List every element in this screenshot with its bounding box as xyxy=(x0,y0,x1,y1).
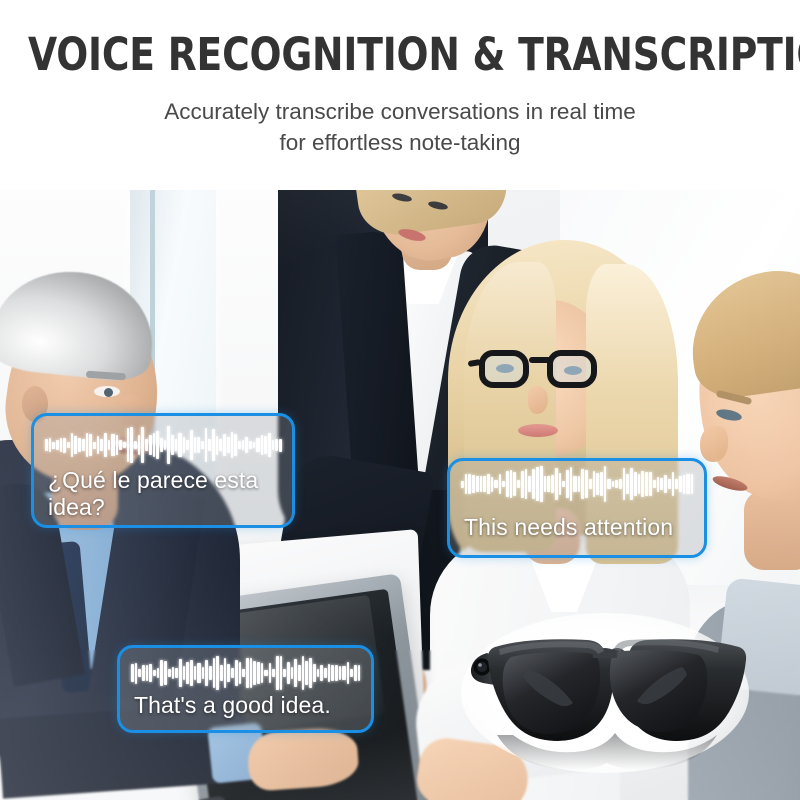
waveform-bar xyxy=(555,468,558,501)
waveform-bar xyxy=(645,472,648,496)
waveform-bar xyxy=(638,474,641,495)
waveform-bar xyxy=(67,442,70,449)
waveform-bar xyxy=(657,477,660,492)
waveform-bar xyxy=(178,433,181,456)
waveform-bar xyxy=(302,656,305,690)
right-man-neck xyxy=(744,490,800,570)
waveform-bar xyxy=(291,667,294,680)
waveform-bar xyxy=(250,658,253,689)
waveform-bar xyxy=(146,665,149,682)
waveform-bar xyxy=(269,663,272,683)
waveform-bar xyxy=(235,660,238,685)
waveform-bar xyxy=(145,439,148,450)
waveform-bar xyxy=(581,469,584,499)
page-title: VOICE RECOGNITION & TRANSCRIPTION xyxy=(28,30,772,80)
right-man-nose xyxy=(700,426,728,462)
waveform-bar xyxy=(223,434,226,456)
waveform-bar xyxy=(566,470,569,498)
waveform-bar xyxy=(264,436,267,454)
waveform-bar xyxy=(141,427,144,464)
waveform-bar xyxy=(649,472,652,495)
waveform-bar xyxy=(246,658,249,687)
waveform-bar xyxy=(521,471,524,498)
waveform-bar xyxy=(331,665,334,681)
waveform-bar xyxy=(570,467,573,500)
waveform-bar xyxy=(268,433,271,456)
waveform-bar xyxy=(97,436,100,455)
waveform-bar xyxy=(472,475,475,492)
waveform-bar xyxy=(138,669,141,677)
waveform-bar xyxy=(468,474,471,494)
waveform-bar xyxy=(216,656,219,691)
waveform-bar xyxy=(261,435,264,454)
waveform-bar xyxy=(134,441,137,450)
waveform-bar xyxy=(197,663,200,683)
waveform-bar xyxy=(52,442,55,449)
waveform-bar xyxy=(480,476,483,491)
waveform-bar xyxy=(499,474,502,494)
waveform-bar xyxy=(607,479,610,490)
waveform-bar xyxy=(149,664,152,682)
waveform-bar xyxy=(205,660,208,686)
waveform-bar xyxy=(461,481,464,488)
waveform-bar xyxy=(619,479,622,489)
waveform-bar xyxy=(354,665,357,681)
waveform-bar xyxy=(630,468,633,499)
waveform-bar xyxy=(272,669,275,678)
waveform-bar xyxy=(593,471,596,498)
waveform-bar xyxy=(45,439,48,452)
waveform-bar xyxy=(287,662,290,684)
waveform-bar xyxy=(506,471,509,498)
eyeglass-lens-right xyxy=(547,350,597,388)
waveform-bar xyxy=(164,661,167,685)
waveform-bar xyxy=(679,476,682,492)
waveform-bar xyxy=(476,476,479,492)
waveform-bar xyxy=(227,664,230,682)
waveform-bar xyxy=(283,669,286,676)
waveform-bar xyxy=(275,439,278,452)
waveform-bar xyxy=(675,479,678,490)
page-subtitle: Accurately transcribe conversations in r… xyxy=(0,96,800,158)
waveform-bar xyxy=(634,472,637,496)
waveform-bar xyxy=(142,665,145,680)
page-subtitle-line-1: Accurately transcribe conversations in r… xyxy=(0,96,800,127)
waveform-bar xyxy=(71,433,74,457)
waveform-bar xyxy=(256,438,259,452)
waveform-bar xyxy=(536,467,539,501)
waveform-bar xyxy=(63,438,66,453)
waveform-bar xyxy=(190,660,193,686)
waveform-bar xyxy=(160,660,163,685)
waveform-bar xyxy=(205,428,208,462)
waveform-bar xyxy=(231,668,234,678)
waveform-bar xyxy=(234,434,237,456)
waveform-bar xyxy=(604,466,607,502)
waveform-bar xyxy=(190,430,193,460)
waveform-bar xyxy=(157,668,160,677)
eyeglass-bridge xyxy=(529,357,551,363)
waveform-bar xyxy=(540,466,543,502)
waveform-bar xyxy=(153,670,156,676)
transcription-text: ¿Qué le parece esta idea? xyxy=(48,467,282,521)
waveform-bar xyxy=(335,665,338,682)
waveform-bar xyxy=(212,429,215,461)
waveform-bar xyxy=(339,666,342,681)
audio-waveform-icon xyxy=(460,461,694,507)
waveform-bar xyxy=(186,662,189,684)
waveform-bar xyxy=(138,435,141,455)
waveform-bar xyxy=(305,661,308,685)
waveform-bar xyxy=(78,438,81,453)
waveform-bar xyxy=(119,440,122,450)
waveform-bar xyxy=(168,669,171,677)
waveform-bar xyxy=(186,440,189,450)
waveform-bar xyxy=(202,667,205,680)
waveform-bar xyxy=(517,480,520,488)
waveform-bar xyxy=(213,658,216,688)
waveform-bar xyxy=(578,476,581,492)
waveform-bar xyxy=(525,469,528,499)
waveform-bar xyxy=(547,476,550,493)
older-man-pupil xyxy=(104,388,113,397)
waveform-bar xyxy=(74,436,77,454)
waveform-bar xyxy=(317,669,320,677)
waveform-bar xyxy=(153,433,156,457)
waveform-bar xyxy=(194,437,197,454)
transcription-bubble-goodidea[interactable]: That's a good idea. xyxy=(117,645,374,733)
waveform-bar xyxy=(201,441,204,449)
waveform-bar xyxy=(86,433,89,458)
transcription-bubble-spanish[interactable]: ¿Qué le parece esta idea? xyxy=(31,413,295,528)
header-banner: VOICE RECOGNITION & TRANSCRIPTION Accura… xyxy=(0,0,800,190)
waveform-bar xyxy=(358,665,361,681)
waveform-bar xyxy=(264,670,267,676)
waveform-bar xyxy=(216,436,219,455)
audio-waveform-icon xyxy=(130,650,361,696)
waveform-bar xyxy=(60,438,63,451)
waveform-bar xyxy=(220,665,223,681)
waveform-bar xyxy=(209,666,212,679)
waveform-bar xyxy=(183,666,186,679)
waveform-bar xyxy=(93,442,96,449)
waveform-bar xyxy=(116,435,119,455)
waveform-bar xyxy=(494,480,497,488)
waveform-bar xyxy=(551,475,554,493)
transcription-text: This needs attention xyxy=(464,514,694,541)
waveform-bar xyxy=(544,476,547,492)
waveform-bar xyxy=(130,427,133,463)
waveform-bar xyxy=(242,669,245,677)
waveform-bar xyxy=(298,665,301,682)
waveform-bar xyxy=(49,438,52,452)
waveform-bar xyxy=(253,661,256,685)
waveform-bar xyxy=(82,439,85,451)
waveform-bar xyxy=(279,439,282,452)
waveform-bar xyxy=(324,668,327,678)
center-woman-lips xyxy=(518,424,558,437)
waveform-bar xyxy=(175,439,178,452)
waveform-bar xyxy=(491,477,494,492)
waveform-bar xyxy=(585,470,588,498)
waveform-bar xyxy=(691,474,694,494)
waveform-bar xyxy=(350,669,353,677)
transcription-text: That's a good idea. xyxy=(134,692,361,719)
waveform-bar xyxy=(532,469,535,498)
waveform-bar xyxy=(347,662,350,684)
waveform-bar xyxy=(487,474,490,494)
waveform-bar xyxy=(623,468,626,501)
waveform-bar xyxy=(641,471,644,497)
smart-audio-glasses xyxy=(455,595,755,795)
waveform-bar xyxy=(167,426,170,465)
waveform-bar xyxy=(219,439,222,451)
waveform-bar xyxy=(175,668,178,677)
waveform-bar xyxy=(596,473,599,494)
waveform-bar xyxy=(239,662,242,685)
waveform-bar xyxy=(227,437,230,453)
waveform-bar xyxy=(261,663,264,684)
waveform-bar xyxy=(672,472,675,496)
waveform-bar xyxy=(483,476,486,492)
waveform-bar xyxy=(664,475,667,492)
waveform-bar xyxy=(123,442,126,449)
waveform-bar xyxy=(253,442,256,448)
waveform-bar xyxy=(589,479,592,488)
waveform-bar xyxy=(573,476,576,492)
waveform-bar xyxy=(559,473,562,495)
waveform-bar xyxy=(108,440,111,450)
waveform-bar xyxy=(612,481,615,486)
page-subtitle-line-2: for effortless note-taking xyxy=(0,127,800,158)
waveform-bar xyxy=(600,472,603,496)
waveform-bar xyxy=(164,440,167,451)
waveform-bar xyxy=(626,474,629,494)
waveform-bar xyxy=(231,432,234,458)
waveform-bar xyxy=(238,441,241,450)
waveform-bar xyxy=(465,474,468,494)
waveform-bar xyxy=(171,435,174,455)
waveform-bar xyxy=(179,659,182,686)
waveform-bar xyxy=(313,664,316,683)
waveform-bar xyxy=(528,476,531,491)
waveform-bar xyxy=(194,666,197,679)
waveform-bar xyxy=(502,481,505,487)
waveform-bar xyxy=(100,439,103,451)
waveform-bar xyxy=(135,663,138,684)
waveform-bar xyxy=(149,435,152,454)
waveform-bar xyxy=(197,437,200,453)
waveform-bar xyxy=(660,478,663,491)
waveform-bar xyxy=(309,658,312,688)
waveform-bar xyxy=(242,440,245,451)
waveform-bar xyxy=(172,667,175,680)
glasses-illustration xyxy=(455,595,755,795)
waveform-bar xyxy=(653,480,656,489)
eyeglass-lens-left xyxy=(479,350,529,388)
waveform-bar xyxy=(249,441,252,448)
waveform-bar xyxy=(562,481,565,488)
waveform-bar xyxy=(668,479,671,489)
waveform-bar xyxy=(183,437,186,453)
waveform-bar xyxy=(104,433,107,457)
waveform-bar xyxy=(224,658,227,688)
waveform-bar xyxy=(342,666,345,679)
waveform-bar xyxy=(683,475,686,494)
waveform-bar xyxy=(208,439,211,451)
waveform-bar xyxy=(127,428,130,463)
waveform-bar xyxy=(111,434,114,456)
eyeglasses-icon xyxy=(477,348,609,392)
waveform-bar xyxy=(513,472,516,496)
waveform-bar xyxy=(160,438,163,453)
audio-waveform-icon xyxy=(44,422,282,468)
transcription-bubble-attention[interactable]: This needs attention xyxy=(447,458,707,558)
waveform-bar xyxy=(328,664,331,683)
waveform-bar xyxy=(686,474,689,494)
waveform-bar xyxy=(257,662,260,685)
waveform-bar xyxy=(131,664,134,682)
waveform-bar xyxy=(320,665,323,682)
waveform-bar xyxy=(89,434,92,456)
waveform-bar xyxy=(245,437,248,453)
waveform-bar xyxy=(56,440,59,449)
waveform-bar xyxy=(272,440,275,451)
waveform-bar xyxy=(510,470,513,498)
waveform-bar xyxy=(280,656,283,689)
waveform-bar xyxy=(156,431,159,459)
waveform-bar xyxy=(615,480,618,488)
waveform-bar xyxy=(294,659,297,688)
waveform-bar xyxy=(276,656,279,690)
